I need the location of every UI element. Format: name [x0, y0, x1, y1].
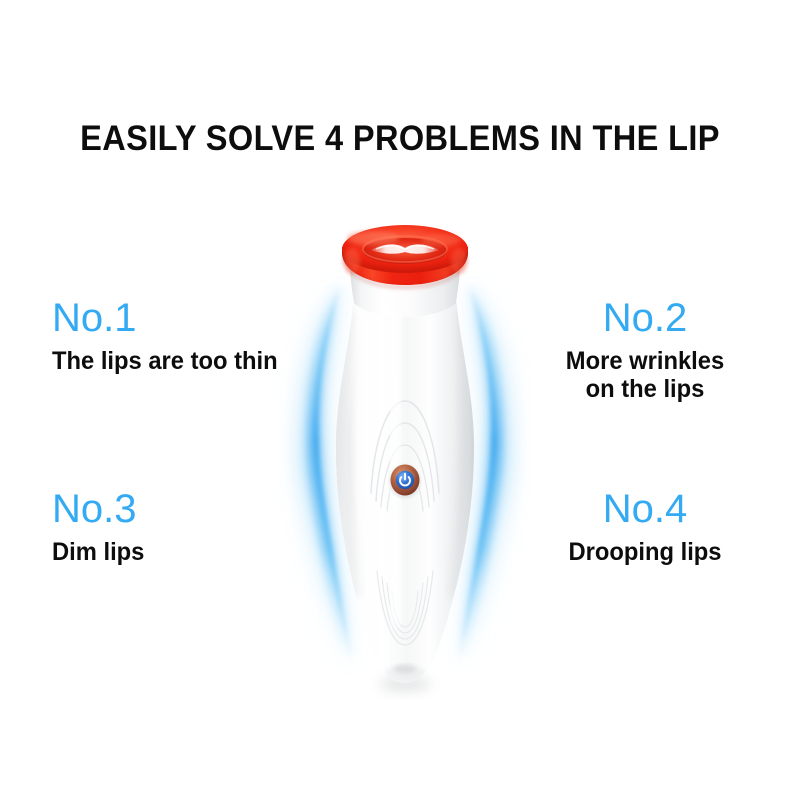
problem-number-2: No.2 [545, 296, 745, 340]
power-button [389, 465, 421, 499]
problem-item-4: No.4 Drooping lips [545, 487, 745, 566]
problem-description-4: Drooping lips [550, 538, 740, 566]
problem-item-1: No.1 The lips are too thin [52, 296, 312, 375]
lip-ring-red [342, 225, 468, 287]
infographic-canvas: EASILY SOLVE 4 PROBLEMS IN THE LIP [0, 0, 800, 800]
problem-description-3: Dim lips [52, 538, 299, 566]
problem-number-4: No.4 [545, 487, 745, 531]
problem-item-2: No.2 More wrinkles on the lips [545, 296, 745, 403]
page-title: EASILY SOLVE 4 PROBLEMS IN THE LIP [28, 119, 772, 159]
problem-item-3: No.3 Dim lips [52, 487, 312, 566]
problem-description-1: The lips are too thin [52, 347, 299, 375]
problem-description-2-line2: on the lips [550, 375, 740, 403]
problem-description-2: More wrinkles on the lips [550, 347, 740, 403]
problem-number-3: No.3 [52, 487, 312, 531]
problem-description-2-line1: More wrinkles [550, 347, 740, 375]
problem-number-1: No.1 [52, 296, 312, 340]
